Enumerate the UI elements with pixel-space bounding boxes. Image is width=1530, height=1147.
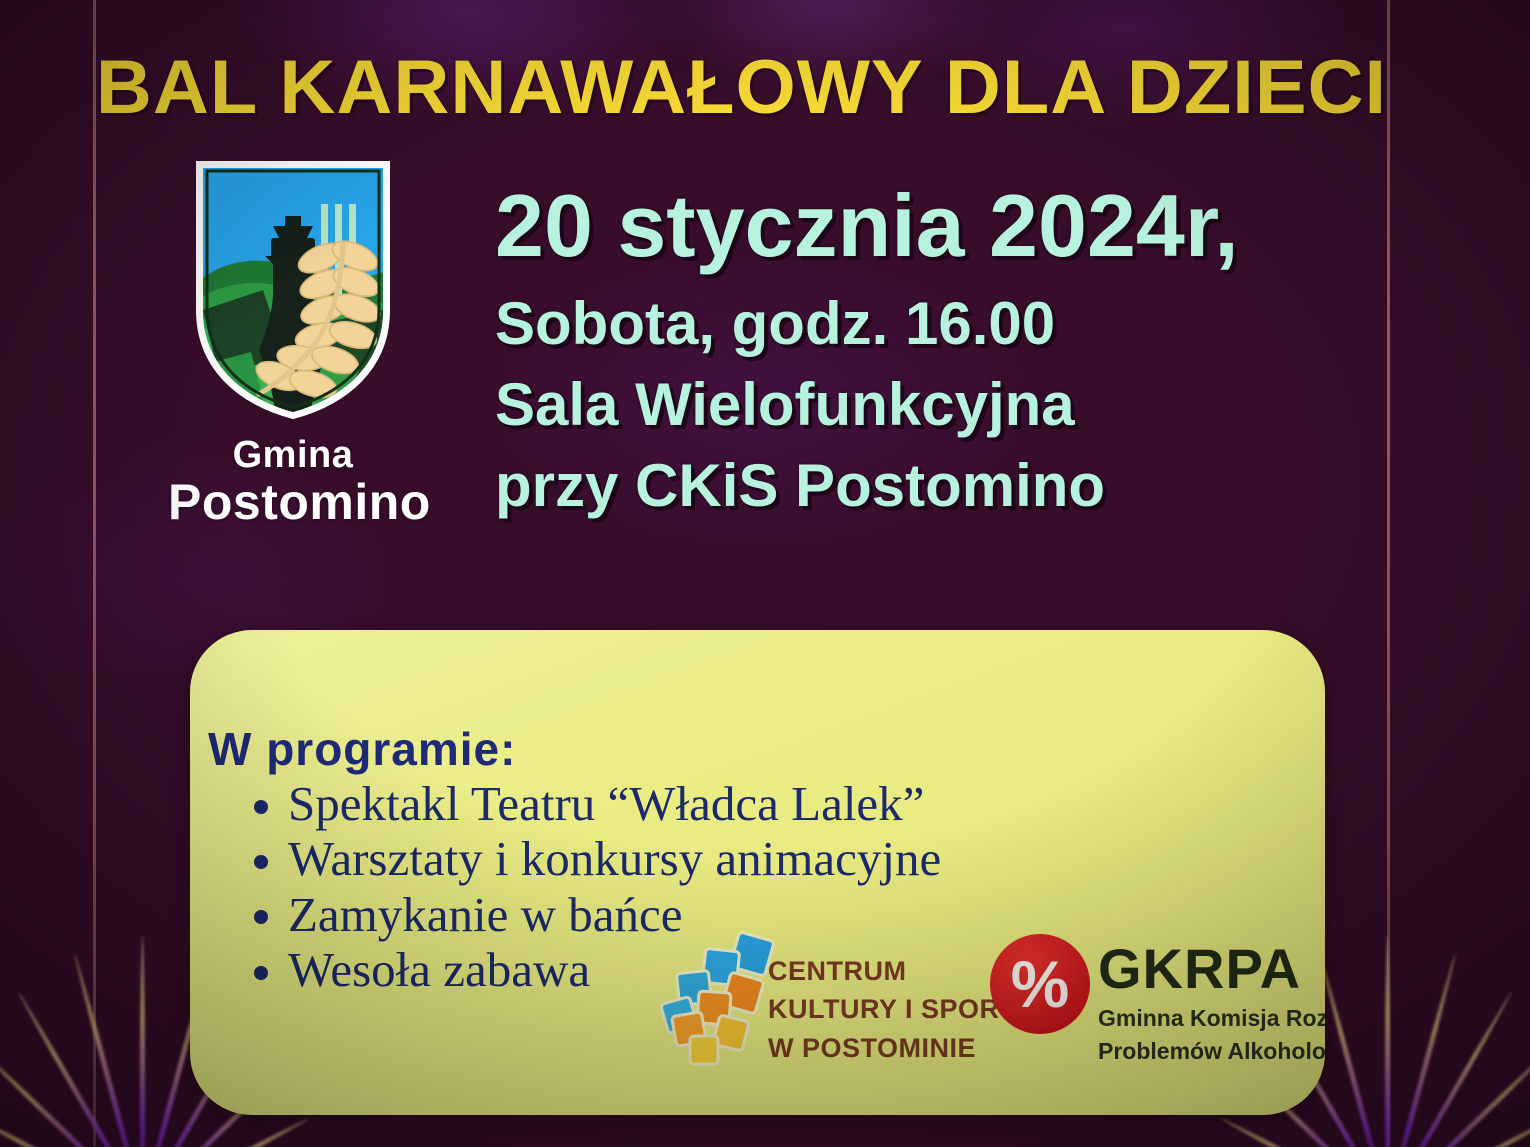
event-venue-line2: przy CKiS Postomino	[495, 448, 1375, 525]
postomino-coat-of-arms-icon	[193, 160, 393, 420]
program-heading: W programie:	[208, 722, 516, 776]
gkrpa-logo: % GKRPA Gminna Komisja Rozwiązywania Pro…	[990, 930, 1310, 1105]
poster-title: BAL KARNAWAŁOWY DLA DZIECI	[80, 44, 1403, 131]
percent-symbol: %	[990, 934, 1090, 1034]
event-detail-lines: Sobota, godz. 16.00 Sala Wielofunkcyjna …	[495, 286, 1375, 524]
event-details: 20 stycznia 2024r, Sobota, godz. 16.00 S…	[495, 182, 1375, 524]
program-item: Warsztaty i konkursy animacyjne	[240, 831, 941, 886]
border-rule-right	[1387, 0, 1390, 1147]
municipality-crest-block: Gmina Postomino	[168, 160, 418, 531]
program-panel: W programie: Spektakl Teatru “Władca Lal…	[190, 630, 1325, 1115]
gkrpa-full-name: Gminna Komisja Rozwiązywania Problemów A…	[1098, 1002, 1325, 1067]
ckis-fan-icon	[660, 930, 780, 1080]
event-date: 20 stycznia 2024r,	[495, 182, 1375, 270]
event-venue-line1: Sala Wielofunkcyjna	[495, 367, 1375, 444]
crest-label-postomino: Postomino	[168, 473, 418, 531]
event-poster: BAL KARNAWAŁOWY DLA DZIECI	[0, 0, 1530, 1147]
ckis-logo: CENTRUM KULTURY I SPORTU W POSTOMINIE	[660, 930, 980, 1105]
gkrpa-full-line-2: Problemów Alkoholowych	[1098, 1035, 1325, 1068]
event-day-time: Sobota, godz. 16.00	[495, 286, 1375, 363]
border-rule-left	[93, 0, 96, 1147]
gkrpa-acronym: GKRPA	[1098, 936, 1301, 1001]
gkrpa-full-line-1: Gminna Komisja Rozwiązywania	[1098, 1002, 1325, 1035]
crest-label-gmina: Gmina	[168, 434, 418, 477]
program-item: Spektakl Teatru “Władca Lalek”	[240, 776, 941, 831]
